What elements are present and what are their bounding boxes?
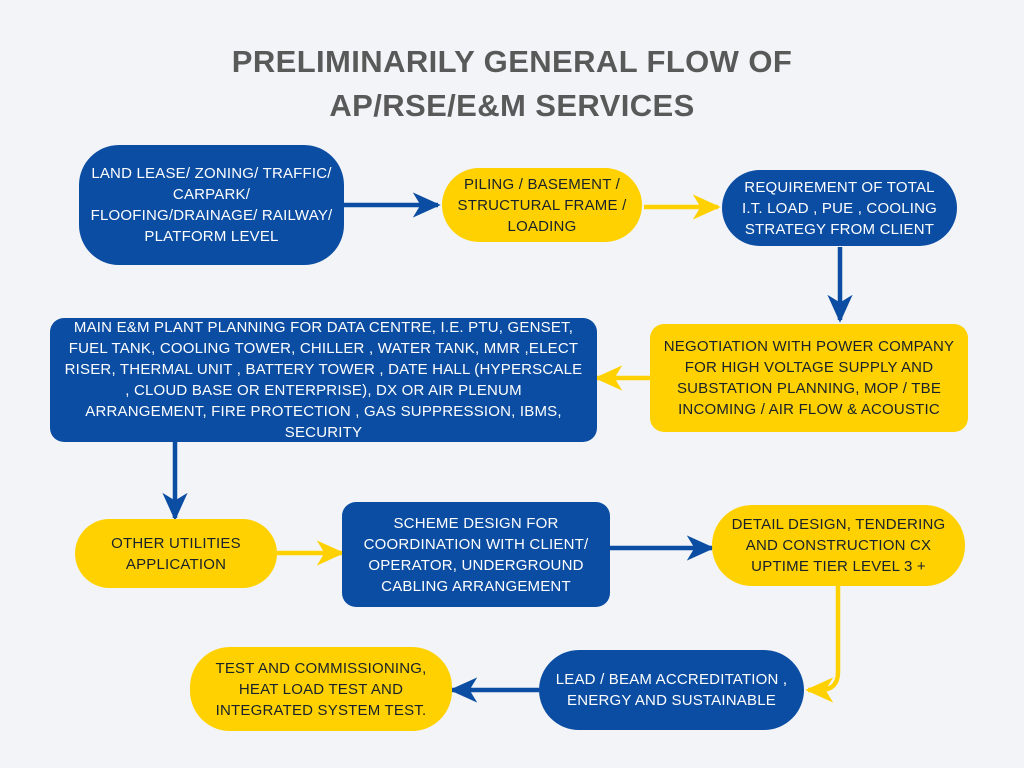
node-requirement[interactable]: REQUIREMENT OF TOTAL I.T. LOAD , PUE , C… <box>722 170 957 246</box>
node-test-commissioning-label: TEST AND COMMISSIONING, HEAT LOAD TEST A… <box>200 658 442 721</box>
node-lead-beam[interactable]: LEAD / BEAM ACCREDITATION , ENERGY AND S… <box>539 650 804 730</box>
node-main-em-plant[interactable]: MAIN E&M PLANT PLANNING FOR DATA CENTRE,… <box>50 318 597 442</box>
node-requirement-label: REQUIREMENT OF TOTAL I.T. LOAD , PUE , C… <box>732 177 947 240</box>
title-line-1: PRELIMINARILY GENERAL FLOW OF <box>232 44 792 79</box>
node-scheme-design[interactable]: SCHEME DESIGN FOR COORDINATION WITH CLIE… <box>342 502 610 607</box>
node-negotiation-label: NEGOTIATION WITH POWER COMPANY FOR HIGH … <box>660 336 958 420</box>
connector-detail-design-to-lead-beam <box>808 586 838 690</box>
title-line-2: AP/RSE/E&M SERVICES <box>0 84 1024 128</box>
node-piling[interactable]: PILING / BASEMENT / STRUCTURAL FRAME / L… <box>442 168 642 242</box>
node-other-utilities[interactable]: OTHER UTILITIES APPLICATION <box>75 519 277 588</box>
page-title: PRELIMINARILY GENERAL FLOW OF AP/RSE/E&M… <box>0 40 1024 128</box>
node-main-em-plant-label: MAIN E&M PLANT PLANNING FOR DATA CENTRE,… <box>64 317 583 443</box>
node-piling-label: PILING / BASEMENT / STRUCTURAL FRAME / L… <box>452 174 632 237</box>
node-land-lease-label: LAND LEASE/ ZONING/ TRAFFIC/ CARPARK/ FL… <box>89 163 334 247</box>
node-lead-beam-label: LEAD / BEAM ACCREDITATION , ENERGY AND S… <box>549 669 794 711</box>
flowchart-canvas: PRELIMINARILY GENERAL FLOW OF AP/RSE/E&M… <box>0 0 1024 768</box>
node-other-utilities-label: OTHER UTILITIES APPLICATION <box>85 533 267 575</box>
node-detail-design-label: DETAIL DESIGN, TENDERING AND CONSTRUCTIO… <box>722 514 955 577</box>
node-test-commissioning[interactable]: TEST AND COMMISSIONING, HEAT LOAD TEST A… <box>190 647 452 731</box>
node-negotiation[interactable]: NEGOTIATION WITH POWER COMPANY FOR HIGH … <box>650 324 968 432</box>
node-land-lease[interactable]: LAND LEASE/ ZONING/ TRAFFIC/ CARPARK/ FL… <box>79 145 344 265</box>
node-scheme-design-label: SCHEME DESIGN FOR COORDINATION WITH CLIE… <box>352 513 600 597</box>
node-detail-design[interactable]: DETAIL DESIGN, TENDERING AND CONSTRUCTIO… <box>712 505 965 586</box>
